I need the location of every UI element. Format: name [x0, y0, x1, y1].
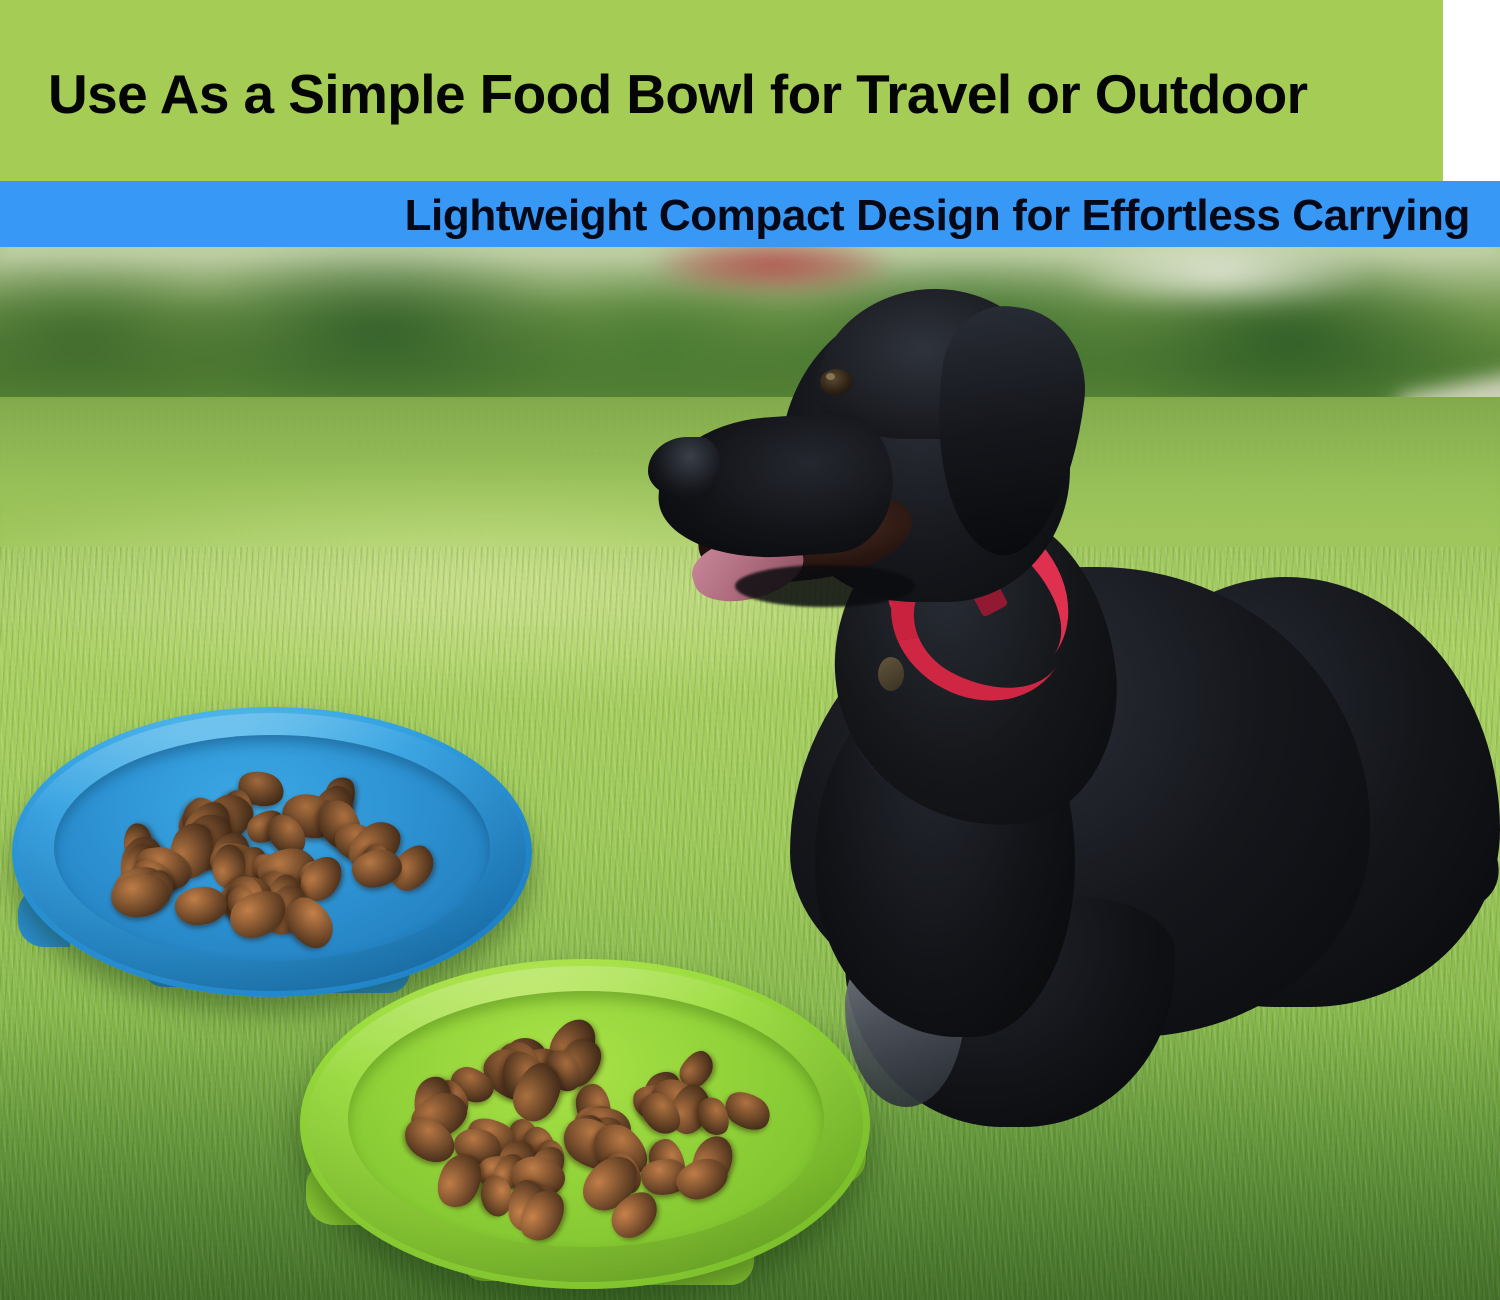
subheadline-text: Lightweight Compact Design for Effortles…	[0, 191, 1470, 241]
dog-collar-tag	[878, 657, 904, 691]
dog-eye-highlight	[826, 373, 835, 380]
dog-eye	[820, 369, 853, 395]
banner: Use As a Simple Food Bowl for Travel or …	[0, 0, 1500, 247]
green-bowl	[300, 959, 870, 1289]
dog-jawline	[735, 565, 915, 607]
product-infographic: Use As a Simple Food Bowl for Travel or …	[0, 0, 1500, 1300]
product-photo	[0, 247, 1500, 1300]
blue-bowl	[12, 707, 532, 997]
headline-text: Use As a Simple Food Bowl for Travel or …	[48, 59, 1408, 129]
dog-nose	[648, 437, 720, 499]
